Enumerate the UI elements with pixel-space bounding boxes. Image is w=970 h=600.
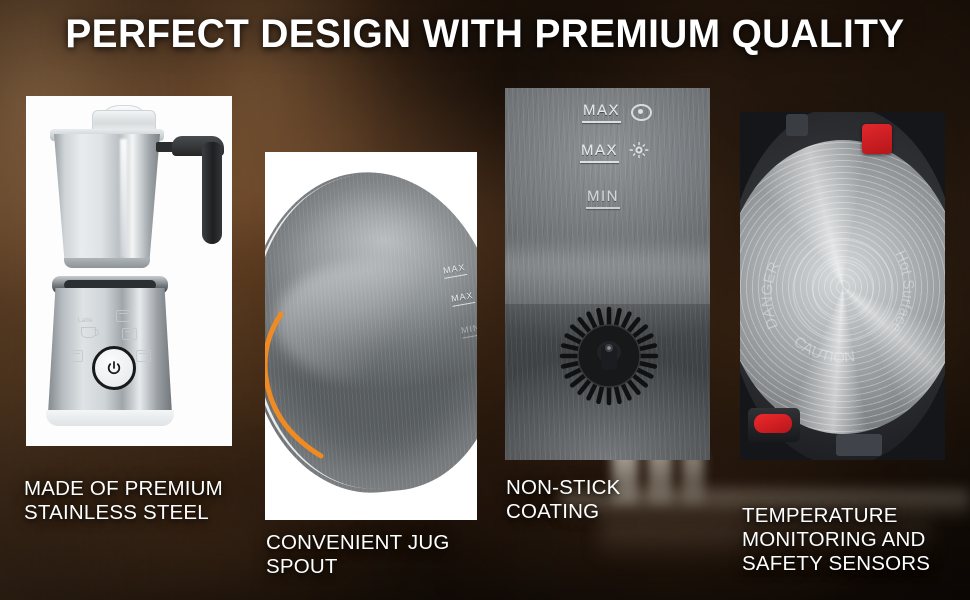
milk-foam-icon — [116, 310, 131, 322]
jug-handle — [172, 136, 224, 244]
emboss-danger: DANGER — [759, 259, 784, 331]
panel-non-stick: MAX MAX — [505, 88, 710, 460]
base-foot — [46, 410, 174, 426]
cold-foam-icon — [68, 350, 83, 362]
milk-frother-illustration: Latte — [26, 96, 232, 446]
jug-bottom — [64, 258, 150, 268]
panel-stainless-steel: Latte — [26, 96, 232, 446]
cup-icon — [81, 327, 96, 338]
housing-notch — [786, 114, 808, 136]
caption-stainless-steel: MADE OF PREMIUM STAINLESS STEEL — [24, 477, 223, 525]
page-title: PERFECT DESIGN WITH PREMIUM QUALITY — [15, 12, 956, 57]
power-button[interactable] — [92, 346, 136, 390]
mode-label-latte: Latte — [78, 318, 93, 324]
level-marking-max-2: MAX — [581, 142, 618, 159]
caption-non-stick: NON-STICK COATING — [506, 476, 621, 524]
embossed-warning-text: DANGER Hot Surface CAUTION — [740, 140, 945, 434]
housing-notch-bottom — [836, 434, 882, 456]
level-marking-max: MAX — [583, 102, 620, 119]
jug-body — [54, 134, 160, 262]
panel-jug-spout: MAX MAX MIN — [265, 152, 477, 520]
emboss-caution: CAUTION — [790, 333, 856, 366]
level-marking-min: MIN — [587, 188, 619, 205]
milk-drop-icon — [631, 104, 652, 121]
milk-warm-icon — [122, 328, 137, 340]
emboss-hot-surface: Hot Surface — [887, 248, 917, 336]
thermal-sensor-bottom — [754, 414, 792, 433]
panel-temperature-sensors: DANGER Hot Surface CAUTION — [740, 112, 945, 460]
whisk-disc-icon — [553, 300, 665, 412]
gear-whisk-icon — [629, 142, 649, 158]
promo-image: PERFECT DESIGN WITH PREMIUM QUALITY Latt… — [0, 0, 970, 600]
thermal-sensor-top — [862, 124, 892, 154]
caption-temperature-sensors: TEMPERATURE MONITORING AND SAFETY SENSOR… — [742, 504, 930, 576]
power-icon — [106, 360, 122, 376]
orange-spout-highlight — [265, 312, 333, 462]
hot-milk-icon — [136, 350, 151, 362]
caption-jug-spout: CONVENIENT JUG SPOUT — [266, 531, 450, 579]
